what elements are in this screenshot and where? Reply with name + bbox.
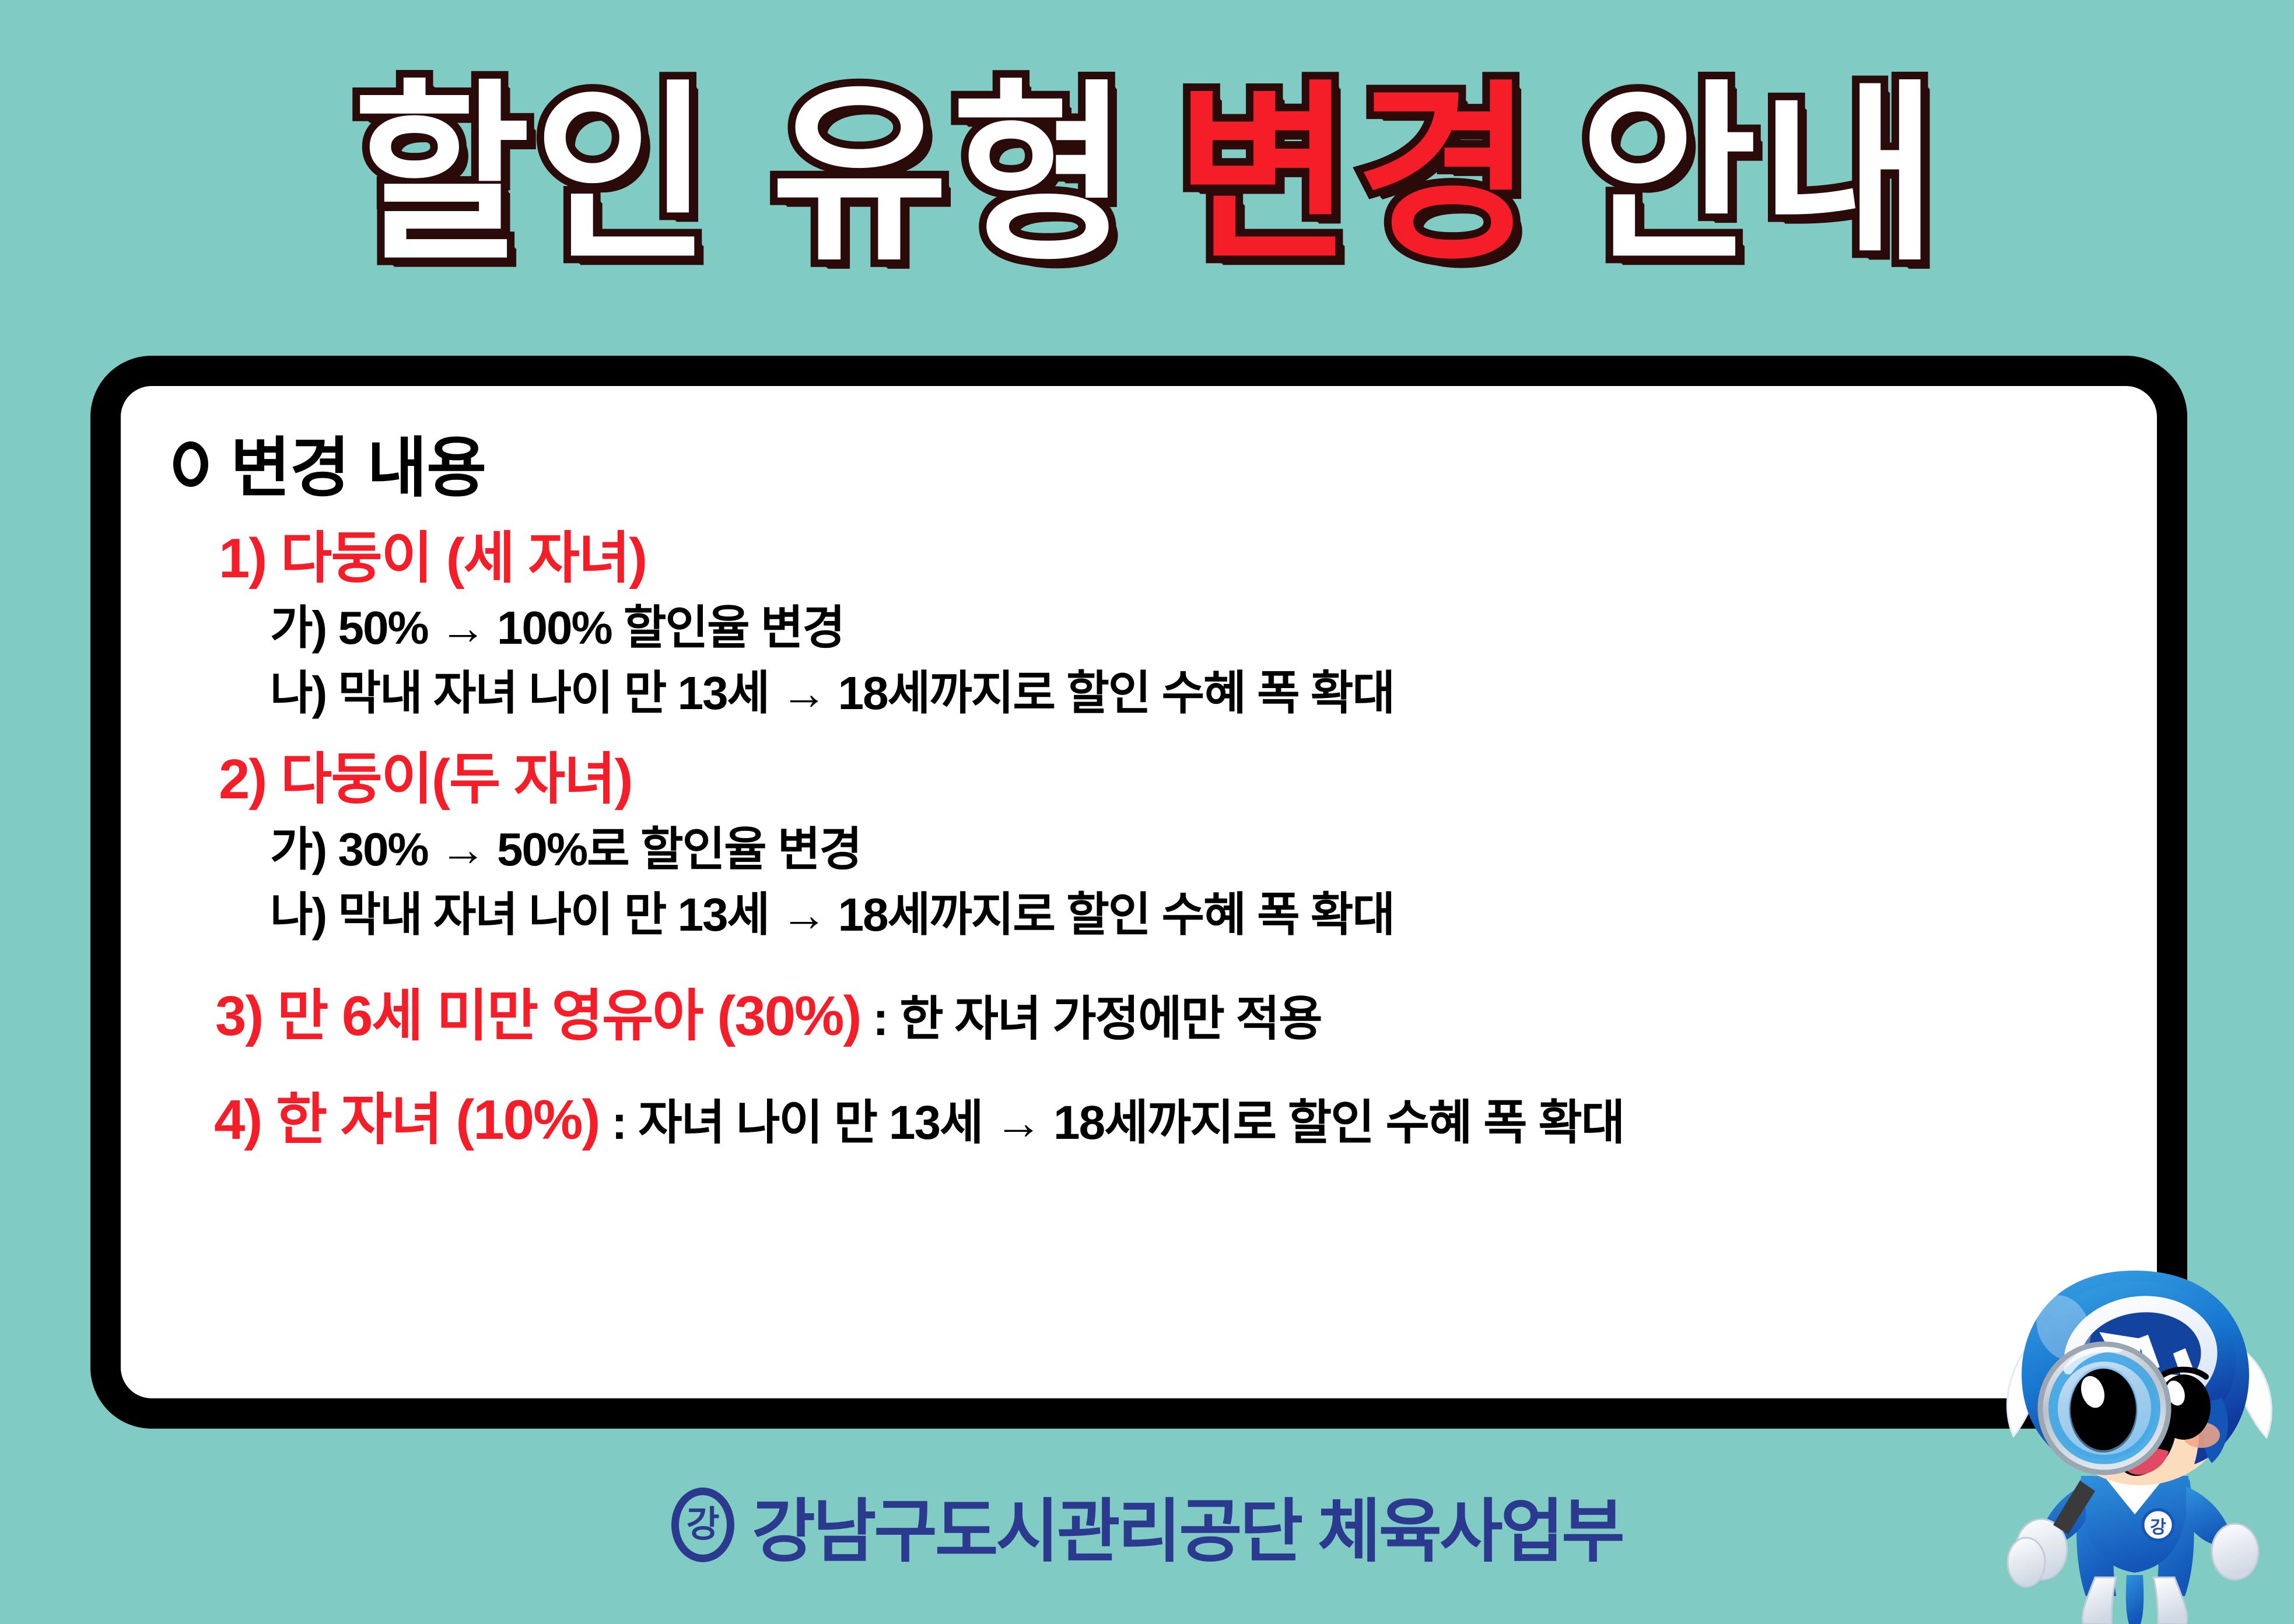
section-1-item-2: 나) 막내 자녀 나이 만 13세 → 18세까지로 할인 수혜 폭 확대 — [270, 668, 2122, 719]
mascot-helmet-cheek-right — [2202, 1398, 2228, 1463]
title-highlight: 변경 — [1175, 79, 1536, 271]
section-2: 2) 다둥이(두 자녀) 가) 30% → 50%로 할인율 변경 나) 막내 … — [219, 749, 2122, 941]
section-3-title-text: 3) 만 6세 미만 영유아 (30%) — [215, 985, 860, 1047]
section-heading-label: 변경 내용 — [230, 434, 486, 503]
content-card-inner: 변경 내용 1) 다둥이 (세 자녀) 가) 50% → 100% 할인율 변경… — [121, 386, 2157, 1398]
title-part-1: 할인 유형 — [353, 79, 1132, 271]
section-4-title: 4) 한 자녀 (10%) : 자녀 나이 만 13세 → 18세까지로 할인 … — [214, 1090, 2122, 1151]
section-2-item-1: 가) 30% → 50%로 할인율 변경 — [270, 824, 2122, 875]
section-1-title: 1) 다둥이 (세 자녀) — [219, 528, 2122, 589]
section-heading: 변경 내용 — [173, 434, 2122, 503]
mascot-blush-right — [2183, 1422, 2220, 1448]
title-part-3: 안내 — [1580, 79, 1941, 271]
section-2-item-2: 나) 막내 자녀 나이 만 13세 → 18세까지로 할인 수혜 폭 확대 — [270, 889, 2122, 941]
section-3: 3) 만 6세 미만 영유아 (30%) : 한 자녀 가정에만 적용 — [219, 986, 2122, 1047]
section-4: 4) 한 자녀 (10%) : 자녀 나이 만 13세 → 18세까지로 할인 … — [214, 1090, 2122, 1151]
organization-name: 강남구도시관리공단 체육사업부 — [752, 1475, 1623, 1575]
section-3-title: 3) 만 6세 미만 영유아 (30%) : 한 자녀 가정에만 적용 — [215, 986, 2122, 1047]
logo-glyph: 강 — [687, 1507, 720, 1543]
circle-bullet-icon — [173, 441, 208, 487]
content-card: 변경 내용 1) 다둥이 (세 자녀) 가) 50% → 100% 할인율 변경… — [90, 356, 2187, 1429]
poster-title: 할인 유형 변경 안내 — [0, 23, 2294, 327]
footer: 강 강남구도시관리공단 체육사업부 — [0, 1458, 2294, 1592]
section-1-item-1: 가) 50% → 100% 할인율 변경 — [270, 602, 2122, 654]
section-2-title: 2) 다둥이(두 자녀) — [219, 749, 2122, 810]
section-4-note: : 자녀 나이 만 13세 → 18세까지로 할인 수혜 폭 확대 — [599, 1096, 1624, 1149]
mascot-fin-right — [2229, 1348, 2271, 1437]
section-1: 1) 다둥이 (세 자녀) 가) 50% → 100% 할인율 변경 나) 막내… — [219, 528, 2122, 720]
organization-logo-icon: 강 — [671, 1488, 734, 1562]
section-3-note: : 한 자녀 가정에만 적용 — [860, 992, 1321, 1046]
section-4-title-text: 4) 한 자녀 (10%) — [214, 1089, 599, 1151]
